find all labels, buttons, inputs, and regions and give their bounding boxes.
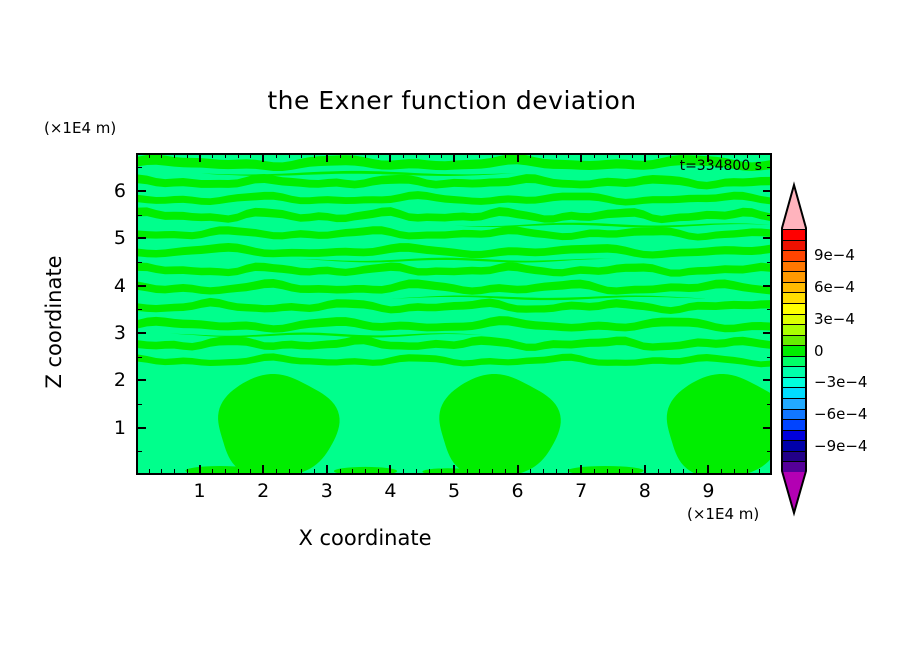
contour-band-layer — [138, 191, 770, 205]
tick-mark — [658, 469, 659, 475]
contour-cell — [218, 374, 339, 473]
tick-mark — [479, 469, 480, 475]
tick-mark — [352, 153, 353, 158]
tick-mark — [136, 237, 146, 239]
tick-mark — [212, 469, 213, 475]
tick-mark — [683, 469, 684, 475]
tick-mark — [747, 469, 748, 475]
tick-mark — [763, 285, 772, 287]
tick-mark — [136, 332, 146, 334]
tick-mark — [767, 215, 772, 216]
tick-mark — [136, 190, 146, 192]
tick-mark — [530, 469, 531, 475]
tick-mark — [696, 469, 697, 475]
contour-field — [138, 155, 770, 473]
tick-mark — [580, 153, 582, 162]
contour-plot-area: t=334800 s — [136, 153, 772, 475]
tick-mark — [658, 153, 659, 158]
tick-mark — [517, 465, 519, 475]
tick-mark — [136, 262, 142, 263]
contour-band-layer — [138, 279, 770, 295]
tick-mark — [403, 153, 404, 158]
colorbar-tick-label: −3e−4 — [814, 373, 867, 391]
tick-mark — [365, 469, 366, 475]
x-axis-tick-label: 4 — [384, 480, 396, 502]
contour-wisp — [391, 295, 707, 300]
tick-mark — [767, 451, 772, 452]
contour-band-layer — [138, 174, 770, 189]
tick-mark — [199, 153, 201, 162]
tick-mark — [161, 469, 162, 475]
tick-mark — [314, 153, 315, 158]
x-axis-tick-label: 5 — [448, 480, 460, 502]
tick-mark — [199, 465, 201, 475]
tick-mark — [340, 469, 341, 475]
colorbar-outline — [781, 185, 807, 515]
tick-mark — [429, 469, 430, 475]
tick-mark — [262, 153, 264, 162]
tick-mark — [492, 469, 493, 475]
tick-mark — [136, 357, 142, 358]
tick-mark — [467, 153, 468, 158]
tick-mark — [441, 153, 442, 158]
tick-mark — [187, 469, 188, 475]
tick-mark — [389, 465, 391, 475]
tick-mark — [721, 469, 722, 475]
tick-mark — [517, 153, 519, 162]
tick-mark — [136, 167, 142, 168]
tick-mark — [763, 427, 772, 429]
tick-mark — [734, 469, 735, 475]
tick-mark — [416, 153, 417, 158]
contour-band-layer — [138, 335, 770, 350]
tick-mark — [174, 469, 175, 475]
tick-mark — [763, 190, 772, 192]
tick-mark — [763, 332, 772, 334]
colorbar-tick-label: 9e−4 — [814, 246, 855, 264]
tick-mark — [763, 379, 772, 381]
tick-mark — [505, 153, 506, 158]
tick-mark — [594, 469, 595, 475]
tick-mark — [238, 153, 239, 158]
x-axis-tick-label: 2 — [257, 480, 269, 502]
tick-mark — [441, 469, 442, 475]
tick-mark — [149, 153, 150, 158]
tick-mark — [580, 465, 582, 475]
tick-mark — [378, 153, 379, 158]
contour-band-layer — [138, 316, 770, 333]
tick-mark — [187, 153, 188, 158]
tick-mark — [136, 451, 142, 452]
x-axis-tick-label: 1 — [194, 480, 206, 502]
tick-mark — [767, 357, 772, 358]
tick-mark — [467, 469, 468, 475]
tick-mark — [161, 153, 162, 158]
x-axis-tick-label: 8 — [639, 480, 651, 502]
contour-cell — [439, 374, 560, 473]
chart-title: the Exner function deviation — [0, 86, 904, 115]
tick-mark — [276, 153, 277, 158]
tick-mark — [670, 153, 671, 158]
tick-mark — [767, 404, 772, 405]
tick-mark — [594, 153, 595, 158]
tick-mark — [365, 153, 366, 158]
colorbar-tick-label: −9e−4 — [814, 437, 867, 455]
tick-mark — [225, 469, 226, 475]
y-axis-tick-label: 5 — [96, 227, 126, 249]
y-axis-tick-label: 2 — [96, 369, 126, 391]
x-axis-title: X coordinate — [0, 526, 730, 550]
tick-mark — [556, 153, 557, 158]
tick-mark — [767, 167, 772, 168]
tick-mark — [607, 153, 608, 158]
tick-mark — [644, 465, 646, 475]
x-axis-unit-label: (×1E4 m) — [687, 505, 759, 523]
colorbar-tick-label: 3e−4 — [814, 310, 855, 328]
colorbar-tick-label: −6e−4 — [814, 405, 867, 423]
tick-mark — [479, 153, 480, 158]
tick-mark — [136, 404, 142, 405]
tick-mark — [429, 153, 430, 158]
tick-mark — [492, 153, 493, 158]
tick-mark — [767, 262, 772, 263]
tick-mark — [453, 465, 455, 475]
colorbar-tick-label: 6e−4 — [814, 278, 855, 296]
tick-mark — [212, 153, 213, 158]
contour-wisp — [170, 333, 486, 338]
tick-mark — [136, 309, 142, 310]
tick-mark — [632, 469, 633, 475]
y-axis-tick-label: 3 — [96, 322, 126, 344]
contour-wisp — [296, 258, 612, 263]
tick-mark — [136, 215, 142, 216]
contour-band-layer — [138, 298, 770, 314]
tick-mark — [632, 153, 633, 158]
tick-mark — [136, 427, 146, 429]
tick-mark — [262, 465, 264, 475]
x-axis-tick-label: 3 — [321, 480, 333, 502]
tick-mark — [607, 469, 608, 475]
colorbar-tick-label: 0 — [814, 342, 824, 360]
x-axis-tick-label: 7 — [575, 480, 587, 502]
tick-mark — [759, 469, 760, 475]
tick-mark — [543, 153, 544, 158]
tick-mark — [225, 153, 226, 158]
tick-mark — [378, 469, 379, 475]
tick-mark — [568, 153, 569, 158]
tick-mark — [149, 469, 150, 475]
tick-mark — [136, 379, 146, 381]
contour-band-layer — [138, 207, 770, 223]
contour-wisp — [454, 223, 770, 228]
time-annotation: t=334800 s — [680, 158, 762, 174]
tick-mark — [644, 153, 646, 162]
y-axis-title: Z coordinate — [42, 242, 66, 402]
y-axis-tick-label: 6 — [96, 180, 126, 202]
contour-band-layer — [138, 262, 770, 276]
tick-mark — [619, 153, 620, 158]
tick-mark — [556, 469, 557, 475]
tick-mark — [289, 469, 290, 475]
tick-mark — [352, 469, 353, 475]
tick-mark — [763, 237, 772, 239]
tick-mark — [174, 153, 175, 158]
tick-mark — [250, 469, 251, 475]
tick-mark — [403, 469, 404, 475]
x-axis-tick-label: 6 — [512, 480, 524, 502]
contour-band-layer — [138, 243, 770, 259]
tick-mark — [453, 153, 455, 162]
tick-mark — [136, 285, 146, 287]
tick-mark — [301, 153, 302, 158]
tick-mark — [289, 153, 290, 158]
tick-mark — [416, 469, 417, 475]
colorbar: 9e−46e−43e−40−3e−4−6e−4−9e−4 — [782, 229, 806, 472]
tick-mark — [767, 309, 772, 310]
contour-band-layer — [138, 226, 770, 240]
tick-mark — [707, 465, 709, 475]
tick-mark — [505, 469, 506, 475]
tick-mark — [619, 469, 620, 475]
y-axis-tick-label: 4 — [96, 275, 126, 297]
tick-mark — [670, 469, 671, 475]
tick-mark — [340, 153, 341, 158]
tick-mark — [326, 153, 328, 162]
x-axis-tick-label: 9 — [702, 480, 714, 502]
contour-cell — [667, 374, 770, 473]
contour-wisp — [201, 171, 517, 176]
tick-mark — [389, 153, 391, 162]
y-axis-tick-label: 1 — [96, 417, 126, 439]
tick-mark — [301, 469, 302, 475]
y-axis-unit-label: (×1E4 m) — [44, 119, 116, 137]
tick-mark — [568, 469, 569, 475]
tick-mark — [238, 469, 239, 475]
tick-mark — [326, 465, 328, 475]
tick-mark — [250, 153, 251, 158]
contour-band-layer — [138, 353, 770, 367]
tick-mark — [543, 469, 544, 475]
tick-mark — [530, 153, 531, 158]
tick-mark — [276, 469, 277, 475]
tick-mark — [314, 469, 315, 475]
